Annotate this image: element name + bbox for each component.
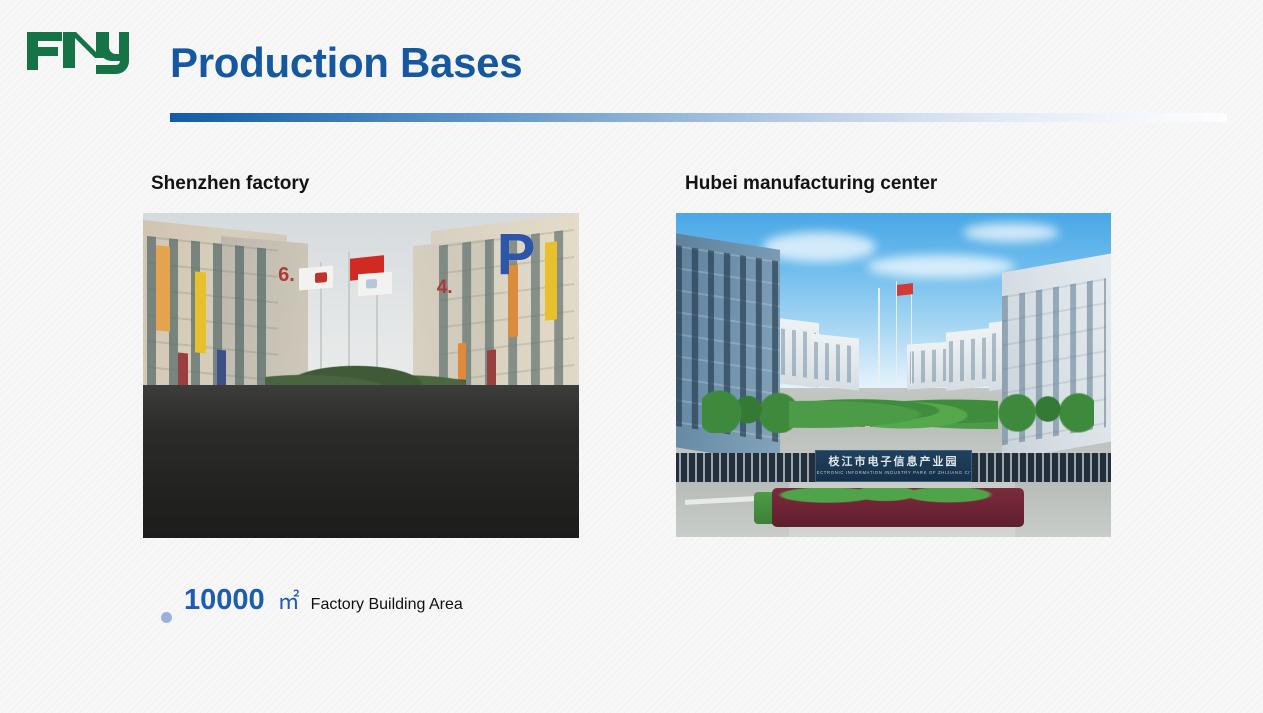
right-road — [1015, 482, 1111, 537]
factory-area-stat: 10000 ㎡ Factory Building Area — [160, 586, 463, 615]
entrance-red-hedge — [772, 488, 1024, 527]
central-green-island — [789, 391, 998, 430]
hubei-manufacturing-center-photo: 枝江市电子信息产业园 ELECTRONIC INFORMATION INDUST… — [676, 213, 1111, 537]
shenzhen-factory-photo: P 6. 4. 中粮(福安)机器人智造产业园 COFCO (FUAN) ROBO — [143, 213, 579, 538]
facade-accent-orange-left — [156, 245, 170, 331]
facade-letter-p-sign: P — [497, 226, 536, 284]
stat-unit: ㎡ — [278, 591, 300, 613]
stat-label: Factory Building Area — [311, 597, 463, 613]
fny-logo — [24, 25, 134, 75]
hubei-flagpole-center — [896, 281, 898, 385]
cloud-3 — [963, 223, 1059, 242]
mid-building-4-windows — [949, 337, 995, 383]
hubei-photo-scene: 枝江市电子信息产业园 ELECTRONIC INFORMATION INDUST… — [676, 213, 1111, 537]
flag-white-right — [358, 272, 392, 296]
left-tree-row — [702, 388, 798, 433]
shenzhen-photo-scene: P 6. 4. 中粮(福安)机器人智造产业园 COFCO (FUAN) ROBO — [143, 213, 579, 538]
hubei-sign-english: ELECTRONIC INFORMATION INDUSTRY PARK OF … — [815, 470, 972, 475]
retractable-gate-left — [676, 453, 824, 482]
building-number-4: 4. — [437, 278, 453, 297]
slide-root: Production Bases Shenzhen factory P 6. 4… — [0, 0, 1263, 713]
facade-accent-yellow-left — [195, 271, 206, 353]
retractable-gate-right — [967, 453, 1111, 482]
base-caption-hubei: Hubei manufacturing center — [685, 173, 937, 195]
flag-white-left — [299, 265, 333, 290]
hubei-flagpole-right — [911, 291, 913, 385]
hubei-sign-chinese: 枝江市电子信息产业园 — [828, 456, 958, 468]
mid-building-2-windows — [814, 342, 856, 383]
base-caption-shenzhen: Shenzhen factory — [151, 173, 309, 195]
hubei-entrance-sign: 枝江市电子信息产业园 ELECTRONIC INFORMATION INDUST… — [815, 450, 972, 482]
facade-accent-yellow-right — [545, 242, 557, 321]
hubei-flag-china — [897, 283, 913, 296]
stat-number: 10000 — [184, 586, 265, 615]
cloud-2 — [867, 255, 1015, 278]
hubei-flagpole-left — [878, 288, 880, 385]
mid-building-2 — [811, 334, 859, 391]
page-title: Production Bases — [170, 41, 522, 85]
right-tree-row — [998, 385, 1094, 434]
asphalt-ground — [143, 385, 579, 538]
building-number-6: 6. — [278, 265, 295, 285]
title-underline-rule — [170, 113, 1227, 122]
